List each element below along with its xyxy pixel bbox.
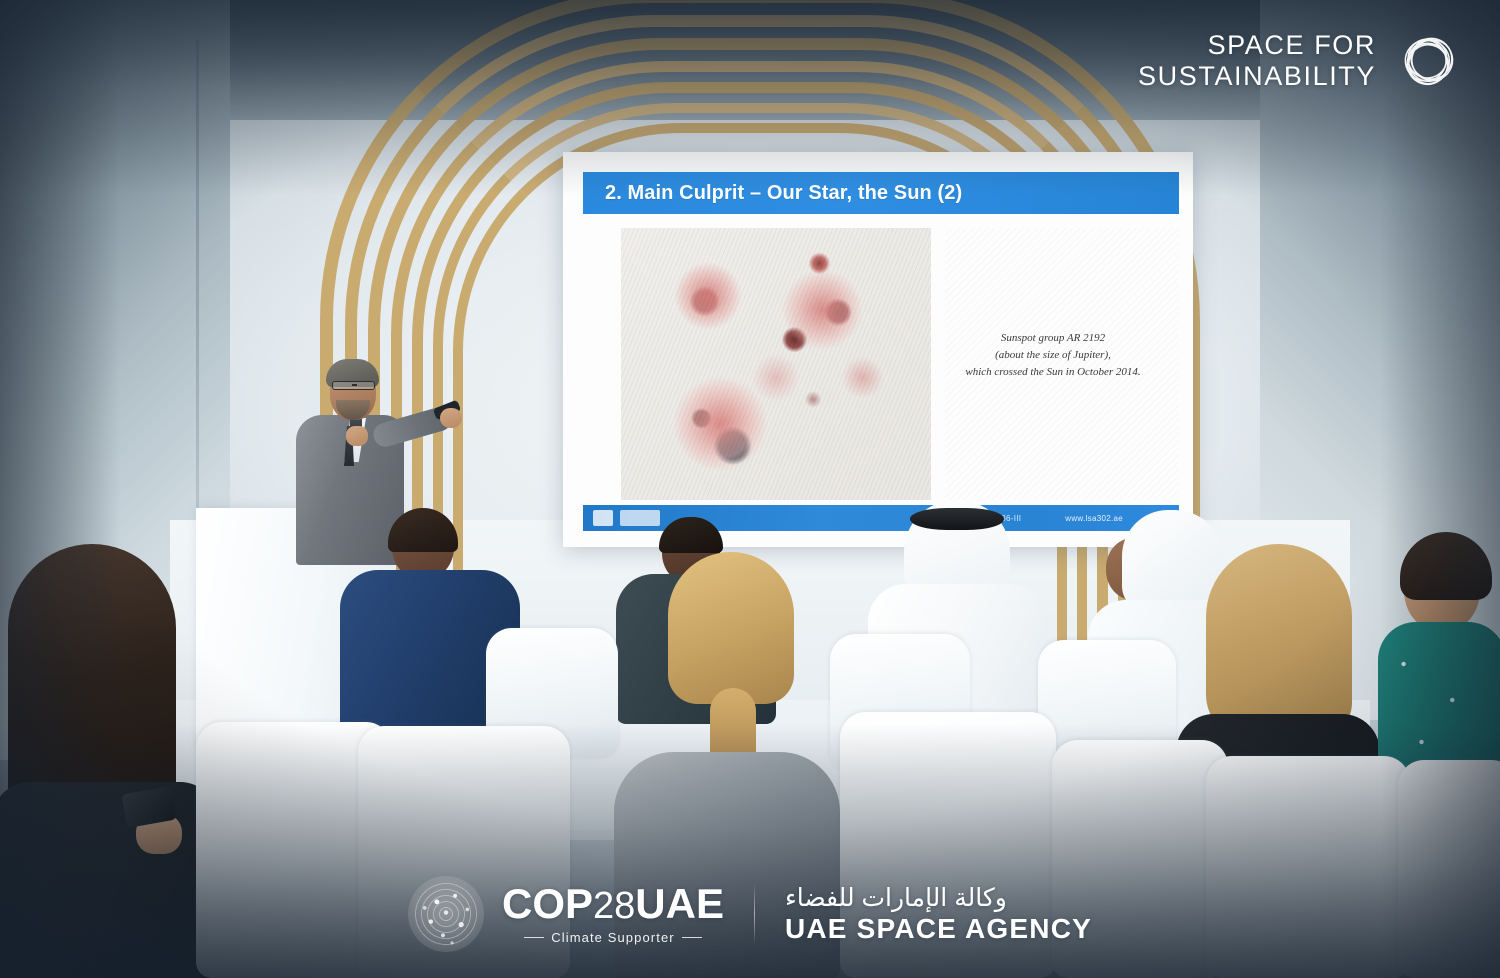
- attendee-hair: [659, 517, 723, 553]
- rule-right: [682, 937, 702, 938]
- agal-icon: [910, 508, 1004, 530]
- cop28-wordmark: COP28UAE Climate Supporter: [502, 883, 724, 945]
- space-for-sustainability-branding: SPACE FOR SUSTAINABILITY: [1138, 24, 1466, 98]
- rule-left: [524, 937, 544, 938]
- brand-line-2: SUSTAINABILITY: [1138, 61, 1376, 92]
- branding-divider: [754, 883, 755, 945]
- slide-title: 2. Main Culprit – Our Star, the Sun (2): [583, 182, 962, 205]
- slide-title-bar: 2. Main Culprit – Our Star, the Sun (2): [583, 172, 1179, 214]
- cop28-globe-icon: [408, 876, 484, 952]
- cop-sub-label: Climate Supporter: [551, 930, 674, 945]
- cop-number: 28: [593, 885, 635, 927]
- glasses-icon: [332, 381, 375, 390]
- brand-text: SPACE FOR SUSTAINABILITY: [1138, 30, 1376, 92]
- caption-line-1: Sunspot group AR 2192: [937, 330, 1169, 347]
- uae-space-agency-wordmark: وكالة الإمارات للفضاء UAE SPACE AGENCY: [785, 883, 1092, 945]
- cop-label: COP: [502, 880, 593, 927]
- photo-grain-overlay: [621, 228, 931, 500]
- cop28-globe-dots: [415, 883, 477, 945]
- bottom-branding-bar: COP28UAE Climate Supporter وكالة الإمارا…: [0, 876, 1500, 952]
- caption-line-3: which crossed the Sun in October 2014.: [937, 364, 1169, 381]
- attendee-hair: [1206, 544, 1352, 740]
- attendee-hair: [1400, 532, 1492, 600]
- presenter-hand: [440, 408, 462, 428]
- slide-caption: Sunspot group AR 2192 (about the size of…: [937, 330, 1169, 381]
- brand-line-1: SPACE FOR: [1138, 30, 1376, 61]
- cop-country: UAE: [635, 880, 724, 927]
- presenter-mic-hand: [346, 426, 368, 446]
- cop28-subtitle: Climate Supporter: [502, 930, 724, 945]
- conference-photo-scene: 2. Main Culprit – Our Star, the Sun (2) …: [0, 0, 1500, 978]
- agency-name-english: UAE SPACE AGENCY: [785, 913, 1092, 945]
- attendee-hair: [668, 552, 794, 704]
- cop28-title: COP28UAE: [502, 883, 724, 927]
- agency-name-arabic: وكالة الإمارات للفضاء: [785, 883, 1092, 913]
- sunspot-group-photo: [621, 228, 931, 500]
- attendee-hair: [388, 508, 458, 552]
- projection-screen: 2. Main Culprit – Our Star, the Sun (2) …: [563, 152, 1193, 547]
- institution-logo-icon: [593, 510, 613, 526]
- caption-line-2: (about the size of Jupiter),: [937, 347, 1169, 364]
- interlocking-rings-icon: [1392, 24, 1466, 98]
